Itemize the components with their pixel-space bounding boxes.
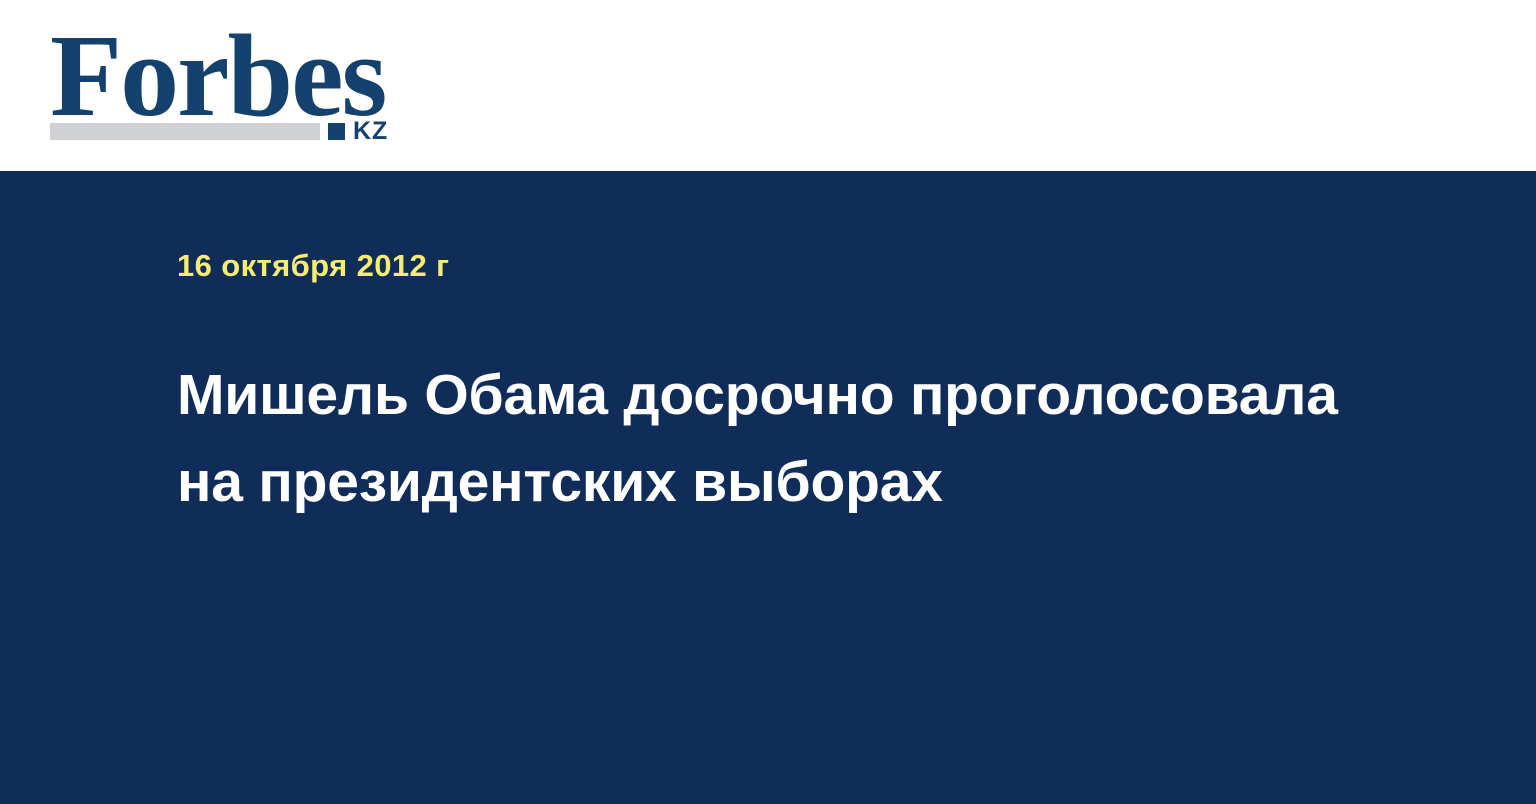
logo-wordmark-text: Forbes — [50, 24, 385, 128]
article-publish-date: 16 октября 2012 г — [177, 249, 449, 283]
logo-square-icon — [328, 123, 345, 140]
site-header: Forbes KZ — [0, 0, 1536, 171]
logo-country-code-text: KZ — [353, 119, 388, 144]
article-hero: 16 октября 2012 г Мишель Обама досрочно … — [0, 171, 1536, 804]
logo-underline-bar — [50, 123, 320, 140]
forbes-kz-logo[interactable]: Forbes KZ — [50, 24, 410, 144]
article-page: Forbes KZ 16 октября 2012 г Мишель Обама… — [0, 0, 1536, 804]
article-headline: Мишель Обама досрочно проголосовала на п… — [177, 352, 1387, 526]
